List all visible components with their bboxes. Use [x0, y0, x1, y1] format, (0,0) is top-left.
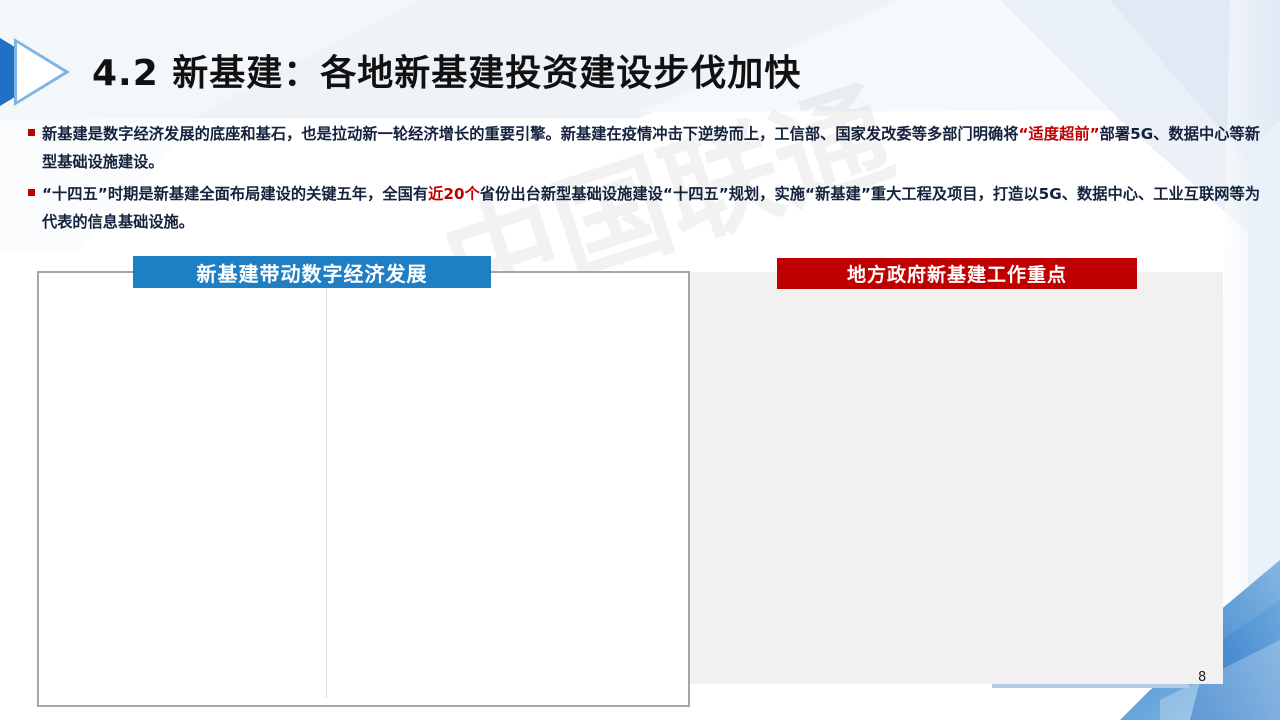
right-panel [690, 272, 1223, 684]
highlight-text: 近20个 [428, 185, 480, 203]
slide-title-bar: 4.2 新基建：各地新基建投资建设步伐加快 [0, 18, 1280, 92]
right-panel-header: 地方政府新基建工作重点 [777, 258, 1137, 289]
bullet-text: 新基建是数字经济发展的底座和基石，也是拉动新一轮经济增长的重要引擎。新基建在疫情… [42, 120, 1260, 176]
bullet-marker-icon [28, 120, 42, 136]
bullet-item: “十四五”时期是新基建全面布局建设的关键五年，全国有近20个省份出台新型基础设施… [28, 180, 1260, 236]
highlight-text: “适度超前” [1019, 125, 1100, 143]
bullet-item: 新基建是数字经济发展的底座和基石，也是拉动新一轮经济增长的重要引擎。新基建在疫情… [28, 120, 1260, 176]
left-panel-header: 新基建带动数字经济发展 [133, 256, 491, 288]
bullet-marker-icon [28, 180, 42, 196]
title-triangle-outline-inner-icon [17, 43, 64, 101]
left-panel [37, 271, 690, 707]
left-panel-divider [326, 280, 327, 698]
body-text: 新基建是数字经济发展的底座和基石，也是拉动新一轮经济增长的重要引擎。新基建在疫情… [42, 125, 1019, 143]
bullet-list: 新基建是数字经济发展的底座和基石，也是拉动新一轮经济增长的重要引擎。新基建在疫情… [28, 120, 1260, 240]
page-title: 4.2 新基建：各地新基建投资建设步伐加快 [92, 44, 801, 96]
bullet-text: “十四五”时期是新基建全面布局建设的关键五年，全国有近20个省份出台新型基础设施… [42, 180, 1260, 236]
page-number: 8 [1198, 670, 1206, 685]
body-text: “十四五”时期是新基建全面布局建设的关键五年，全国有 [42, 185, 428, 203]
